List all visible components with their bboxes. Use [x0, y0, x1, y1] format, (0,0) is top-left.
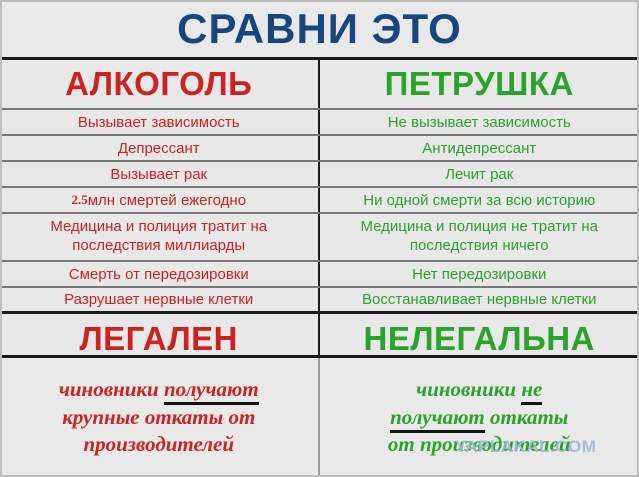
footer-left-line-2: крупные откаты от: [62, 404, 255, 432]
table-row: Разрушает нервные клетки Восстанавливает…: [0, 288, 639, 314]
footer-right-line-3: от производителей: [388, 431, 571, 459]
cell-left-2: Депрессант: [0, 136, 320, 160]
comparison-poster: СРАВНИ ЭТО АЛКОГОЛЬ ПЕТРУШКА Вызывает за…: [0, 0, 639, 477]
footer-right-line-2-underlined: получают: [390, 405, 485, 433]
cell-left-5: Медицина и полиция тратит на последствия…: [0, 214, 320, 260]
page-title: СРАВНИ ЭТО: [177, 8, 462, 50]
footer-left-line-1-underlined: получают: [164, 377, 259, 405]
footer-slogan-right: чиновники не получают откаты от производ…: [320, 358, 639, 477]
legality-right: НЕЛЕГАЛЬНА: [320, 314, 639, 364]
cell-left-4-number: 2.5: [71, 192, 87, 208]
footer-slogans: чиновники получают крупные откаты от про…: [0, 358, 639, 477]
table-row: 2.5 млн смертей ежегодно Ни одной смерти…: [0, 188, 639, 214]
footer-left-line-3: производителей: [83, 431, 234, 459]
footer-right-line-1-plain: чиновники: [416, 377, 516, 401]
comparison-table: АЛКОГОЛЬ ПЕТРУШКА Вызывает зависимость Н…: [0, 60, 639, 358]
table-row: Смерть от передозировки Нет передозировк…: [0, 262, 639, 288]
cell-right-6: Нет передозировки: [320, 262, 639, 286]
cell-right-4: Ни одной смерти за всю историю: [320, 188, 639, 212]
table-header-row: АЛКОГОЛЬ ПЕТРУШКА: [0, 60, 639, 110]
cell-right-3: Лечит рак: [320, 162, 639, 186]
cell-right-7: Восстанавливает нервные клетки: [320, 288, 639, 311]
footer-right-line-2-plain: откаты: [490, 405, 568, 429]
cell-right-5: Медицина и полиция не тратит на последст…: [320, 214, 639, 260]
table-row: Депрессант Антидепрессант: [0, 136, 639, 162]
cell-left-4: 2.5 млн смертей ежегодно: [0, 188, 320, 212]
cell-left-7: Разрушает нервные клетки: [0, 288, 320, 311]
cell-right-2: Антидепрессант: [320, 136, 639, 160]
cell-left-6: Смерть от передозировки: [0, 262, 320, 286]
table-row: Вызывает рак Лечит рак: [0, 162, 639, 188]
cell-left-3: Вызывает рак: [0, 162, 320, 186]
footer-right-line-1: чиновники не: [416, 376, 542, 404]
footer-slogan-left: чиновники получают крупные откаты от про…: [0, 358, 320, 477]
legality-row: ЛЕГАЛЕН НЕЛЕГАЛЬНА: [0, 314, 639, 364]
column-header-parsley: ПЕТРУШКА: [320, 60, 639, 108]
cell-left-4-text: млн смертей ежегодно: [88, 192, 246, 209]
footer-left-line-1-plain: чиновники: [59, 377, 159, 401]
table-row: Медицина и полиция тратит на последствия…: [0, 214, 639, 262]
cell-right-1: Не вызывает зависимость: [320, 110, 639, 134]
legality-left: ЛЕГАЛЕН: [0, 314, 320, 364]
footer-left-line-1: чиновники получают: [59, 376, 259, 404]
footer-right-line-2: получают откаты: [390, 404, 568, 432]
column-header-alcohol: АЛКОГОЛЬ: [0, 60, 320, 108]
poster-title-bar: СРАВНИ ЭТО: [0, 0, 639, 60]
cell-left-1: Вызывает зависимость: [0, 110, 320, 134]
table-row: Вызывает зависимость Не вызывает зависим…: [0, 110, 639, 136]
footer-right-line-1-underlined: не: [521, 377, 542, 405]
